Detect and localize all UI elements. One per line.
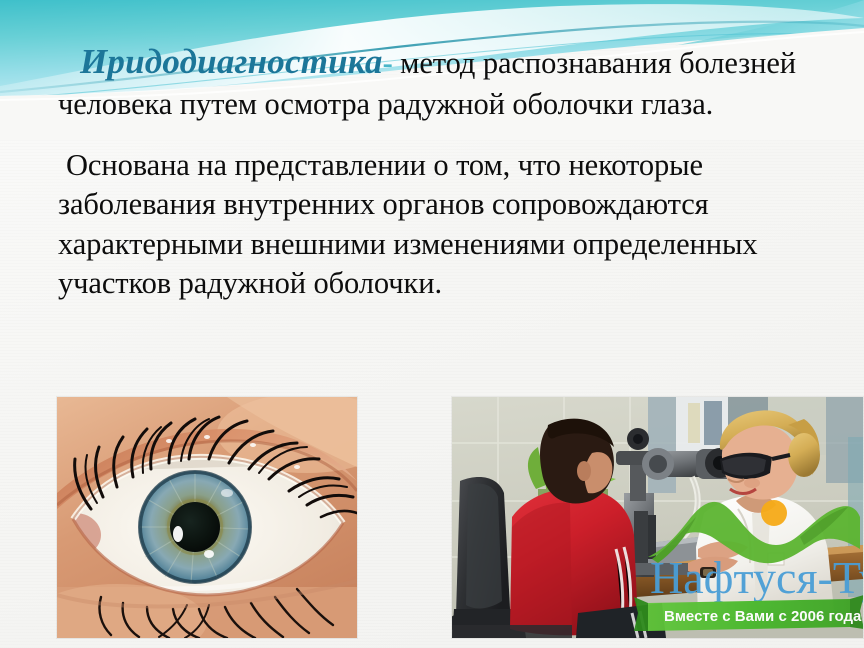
term-iridodiagnostika: Иридодиагностика xyxy=(80,42,383,81)
watermark-brand-text: Нафтуся-Тур xyxy=(650,552,863,603)
slide-text-body: Иридодиагностика- метод распознавания бо… xyxy=(58,40,818,303)
eye-closeup-illustration xyxy=(57,397,357,638)
term-dash: - xyxy=(383,46,393,80)
paragraph-definition: Иридодиагностика- метод распознавания бо… xyxy=(58,40,818,124)
sun-icon xyxy=(761,500,787,526)
examination-illustration: Нафтуся-Тур Вместе с Вами с 2006 года xyxy=(452,397,863,638)
watermark-tagline-text: Вместе с Вами с 2006 года xyxy=(664,608,862,625)
iridology-examination-photo: Нафтуся-Тур Вместе с Вами с 2006 года xyxy=(452,397,863,638)
paragraph-principle: Основана на представлении о том, что нек… xyxy=(58,146,818,303)
eye-closeup-photo xyxy=(57,397,357,638)
presentation-slide: Иридодиагностика- метод распознавания бо… xyxy=(0,0,864,648)
